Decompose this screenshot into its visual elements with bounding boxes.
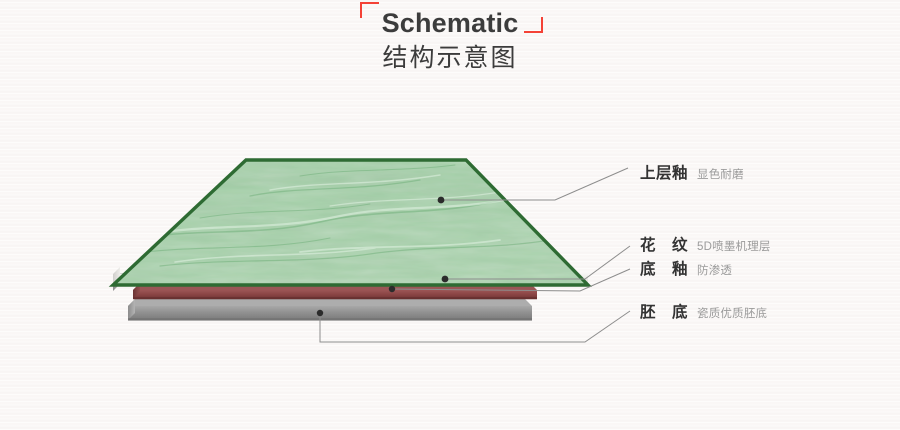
label-pattern-desc: 5D喷墨机理层 [697, 238, 771, 254]
marker-pattern [442, 276, 449, 283]
label-top-glaze-title: 上层釉 [640, 161, 688, 183]
tile-layer-illustration [0, 0, 900, 430]
marker-top-glaze [438, 197, 445, 204]
label-pattern-title: 花 纹 [640, 233, 688, 255]
label-body: 胚 底 瓷质优质胚底 [640, 300, 767, 322]
marker-base-glaze [389, 286, 395, 292]
label-body-desc: 瓷质优质胚底 [697, 305, 767, 321]
label-body-title: 胚 底 [640, 300, 688, 322]
label-pattern: 花 纹 5D喷墨机理层 [640, 233, 771, 255]
label-base-glaze-desc: 防渗透 [697, 262, 732, 278]
layer-body [128, 299, 532, 321]
label-top-glaze: 上层釉 显色耐磨 [640, 161, 744, 183]
label-base-glaze-title: 底 釉 [640, 257, 688, 279]
layer-top-glaze [110, 155, 595, 290]
label-base-glaze: 底 釉 防渗透 [640, 257, 732, 279]
marker-body [317, 310, 323, 316]
schematic-canvas: Schematic 结构示意图 [0, 0, 900, 430]
label-top-glaze-desc: 显色耐磨 [697, 166, 744, 182]
